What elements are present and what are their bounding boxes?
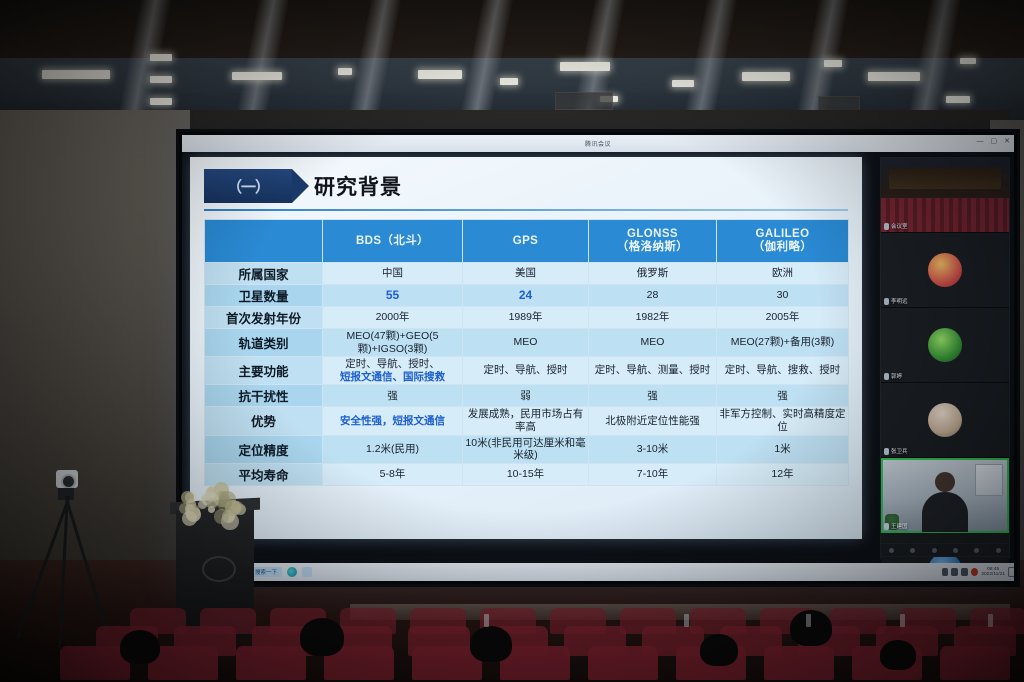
cell-galileo: 强 bbox=[717, 385, 849, 407]
cell-glonss: 28 bbox=[589, 285, 717, 307]
hall-stage bbox=[889, 168, 1002, 189]
gnss-comparison-table: BDS（北斗） GPS GLONSS （格洛纳斯） GALILEO bbox=[204, 219, 849, 486]
cell-text: 2005年 bbox=[766, 311, 800, 323]
cell-bds: 定时、导航、授时、短报文通信、国际搜救 bbox=[323, 357, 463, 385]
window-pane bbox=[975, 464, 1003, 496]
more-options-icon[interactable] bbox=[996, 548, 1001, 553]
microphone-icon bbox=[884, 223, 889, 230]
cell-text: 定时、导航、搜救、授时 bbox=[725, 364, 841, 376]
ceiling-light bbox=[338, 68, 352, 75]
table-row: 平均寿命5-8年10-15年7-10年12年 bbox=[205, 463, 849, 485]
water-bottle bbox=[806, 614, 811, 627]
auditorium-seat bbox=[690, 608, 746, 634]
participant-tile[interactable]: 张卫兵 bbox=[881, 383, 1009, 458]
person-body bbox=[922, 492, 968, 532]
auditorium-seat bbox=[970, 608, 1024, 634]
audience-head bbox=[300, 618, 344, 656]
cell-galileo: 欧洲 bbox=[717, 263, 849, 285]
app-icon[interactable] bbox=[302, 567, 312, 577]
ceiling-light bbox=[742, 72, 790, 81]
column-header-galileo: GALILEO （伽利略） bbox=[717, 220, 849, 263]
clock-date: 2022/11/21 bbox=[981, 572, 1005, 577]
participant-name: 王建国 bbox=[891, 522, 908, 530]
audience-head bbox=[470, 626, 512, 662]
ceiling-light bbox=[418, 70, 462, 79]
window-controls: — ▢ ✕ bbox=[977, 138, 1011, 145]
cell-text: 3-10米 bbox=[637, 443, 669, 455]
participant-name-badge: 会议室 bbox=[884, 222, 908, 230]
auditorium-seat bbox=[900, 608, 956, 634]
cell-text: 12年 bbox=[771, 468, 793, 480]
cell-text: 强 bbox=[387, 390, 398, 402]
cell-text: 1982年 bbox=[636, 311, 670, 323]
flower-arrangement bbox=[178, 482, 254, 528]
table-row: 所属国家中国美国俄罗斯欧洲 bbox=[205, 263, 849, 285]
cell-bds: MEO(47颗)+GEO(5颗)+IGSO(3颗) bbox=[323, 329, 463, 357]
cell-text: 中国 bbox=[382, 267, 403, 279]
maximize-icon[interactable]: ▢ bbox=[991, 138, 998, 145]
volume-icon[interactable] bbox=[961, 568, 968, 576]
cell-bds: 55 bbox=[323, 285, 463, 307]
window-titlebar: 腾讯会议 — ▢ ✕ bbox=[182, 135, 1014, 152]
auditorium-seat bbox=[620, 608, 676, 634]
row-label: 所属国家 bbox=[205, 263, 323, 285]
flower bbox=[186, 499, 196, 509]
cell-text: 1.2米(民用) bbox=[366, 443, 419, 455]
auditorium-seat bbox=[830, 608, 886, 634]
column-header-glonss-line2: （格洛纳斯） bbox=[617, 241, 688, 253]
participant-name-badge: 张卫兵 bbox=[884, 447, 908, 455]
cell-text: 非军方控制、实时高精度定位 bbox=[720, 408, 846, 433]
ceiling-light bbox=[150, 54, 172, 61]
cell-highlight-text: 24 bbox=[519, 288, 532, 302]
cell-highlight-text: 安全性强，短报文通信 bbox=[340, 415, 445, 427]
column-header-galileo-line2: （伽利略） bbox=[753, 241, 813, 253]
cell-galileo: 定时、导航、搜救、授时 bbox=[717, 357, 849, 385]
ceiling-light bbox=[42, 70, 110, 79]
cell-glonss: 俄罗斯 bbox=[589, 263, 717, 285]
section-number-badge: （一） bbox=[204, 169, 292, 203]
notification-icon[interactable] bbox=[971, 568, 978, 576]
participant-name: 李明远 bbox=[891, 297, 908, 305]
meeting-toolbar[interactable] bbox=[880, 543, 1010, 557]
column-header-bds: BDS（北斗） bbox=[323, 220, 463, 263]
table-row: 优势安全性强，短报文通信发展成熟，民用市场占有率高北极附近定位性能强非军方控制、… bbox=[205, 407, 849, 435]
row-label: 首次发射年份 bbox=[205, 307, 323, 329]
window-title: 腾讯会议 bbox=[585, 139, 611, 148]
table-header-row: BDS（北斗） GPS GLONSS （格洛纳斯） GALILEO bbox=[205, 220, 849, 263]
table-row: 抗干扰性强弱强强 bbox=[205, 385, 849, 407]
cell-text: 强 bbox=[777, 390, 788, 402]
cell-text: 1米 bbox=[774, 443, 790, 455]
cell-text: 定时、导航、授时 bbox=[484, 364, 568, 376]
column-header-bds-label: BDS（北斗） bbox=[356, 235, 429, 247]
participant-name: 郭婷 bbox=[891, 372, 902, 380]
microphone-icon bbox=[884, 373, 889, 380]
microphone-icon bbox=[884, 448, 889, 455]
table-corner-cell bbox=[205, 220, 323, 263]
cell-text: MEO(27颗)+备用(3颗) bbox=[731, 336, 835, 348]
projection-screen: 腾讯会议 — ▢ ✕ （一） 研究背景 bbox=[176, 129, 1020, 587]
cell-text: 30 bbox=[777, 289, 789, 301]
cell-text: MEO(47颗)+GEO(5颗)+IGSO(3颗) bbox=[347, 330, 439, 355]
participant-name-badge: 李明远 bbox=[884, 297, 908, 305]
audience-head bbox=[880, 640, 916, 670]
audience-head bbox=[790, 610, 832, 646]
cell-highlight-text: 55 bbox=[386, 288, 399, 302]
ceiling-light bbox=[500, 78, 518, 85]
cell-text: 北极附近定位性能强 bbox=[605, 415, 700, 427]
row-label: 抗干扰性 bbox=[205, 385, 323, 407]
camera-icon[interactable] bbox=[910, 548, 915, 553]
cell-text: 强 bbox=[647, 390, 658, 402]
cell-text: 28 bbox=[647, 289, 659, 301]
water-bottle bbox=[900, 614, 905, 627]
cell-text: 俄罗斯 bbox=[637, 267, 669, 279]
cell-galileo: 2005年 bbox=[717, 307, 849, 329]
system-tray[interactable]: 08:45 2022/11/21 bbox=[942, 567, 1014, 578]
cell-text: 10-15年 bbox=[507, 468, 544, 480]
ceiling-light bbox=[150, 98, 172, 105]
edge-browser-icon[interactable] bbox=[287, 567, 297, 577]
water-bottle bbox=[484, 614, 489, 627]
row-label: 优势 bbox=[205, 407, 323, 435]
taskbar-search-box[interactable]: 搜索一下 bbox=[250, 567, 282, 577]
slide-title: 研究背景 bbox=[314, 171, 402, 201]
ceiling-light bbox=[560, 62, 610, 71]
table-row: 定位精度1.2米(民用)10米(非民用可达厘米和毫米级)3-10米1米 bbox=[205, 435, 849, 463]
cell-bds: 强 bbox=[323, 385, 463, 407]
camera-lens bbox=[61, 474, 76, 489]
cell-glonss: 7-10年 bbox=[589, 463, 717, 485]
person-head bbox=[935, 472, 955, 492]
cell-bds: 安全性强，短报文通信 bbox=[323, 407, 463, 435]
cell-gps: 美国 bbox=[463, 263, 589, 285]
cell-gps: 弱 bbox=[463, 385, 589, 407]
desktop: 腾讯会议 — ▢ ✕ （一） 研究背景 bbox=[182, 135, 1014, 581]
audience-head bbox=[700, 634, 738, 666]
ceiling-light bbox=[960, 58, 976, 64]
section-number-label: （一） bbox=[227, 176, 269, 197]
cell-text: 弱 bbox=[520, 390, 531, 402]
meeting-participant-sidebar[interactable]: 会议室李明远郭婷张卫兵王建国陈学院 bbox=[880, 157, 1010, 559]
participant-tile[interactable]: 郭婷 bbox=[881, 308, 1009, 383]
clock-time: 08:45 bbox=[987, 567, 999, 572]
ceiling-vent bbox=[555, 92, 613, 110]
cell-highlight-text: 短报文通信、国际搜救 bbox=[340, 371, 445, 383]
network-icon[interactable] bbox=[951, 568, 958, 576]
close-icon[interactable]: ✕ bbox=[1004, 138, 1010, 145]
cell-text: 5-8年 bbox=[380, 468, 406, 480]
cell-bds: 5-8年 bbox=[323, 463, 463, 485]
cell-text: 发展成熟，民用市场占有率高 bbox=[468, 408, 584, 433]
cell-glonss: 定时、导航、测量、授时 bbox=[589, 357, 717, 385]
cell-text: 1989年 bbox=[509, 311, 543, 323]
participant-tile[interactable]: 李明远 bbox=[881, 233, 1009, 308]
cell-gps: 24 bbox=[463, 285, 589, 307]
cell-glonss: 强 bbox=[589, 385, 717, 407]
cell-galileo: 非军方控制、实时高精度定位 bbox=[717, 407, 849, 435]
auditorium-seat bbox=[200, 608, 256, 634]
column-header-galileo-line1: GALILEO bbox=[756, 228, 810, 240]
cell-text: 2000年 bbox=[376, 311, 410, 323]
cell-gps: 发展成熟，民用市场占有率高 bbox=[463, 407, 589, 435]
participants-icon[interactable] bbox=[953, 548, 958, 553]
cell-gps: 10-15年 bbox=[463, 463, 589, 485]
avatar bbox=[928, 328, 962, 362]
avatar bbox=[928, 253, 962, 287]
ceiling-light bbox=[672, 80, 694, 87]
avatar bbox=[928, 403, 962, 437]
cell-glonss: MEO bbox=[589, 329, 717, 357]
ceiling-light bbox=[946, 96, 970, 103]
water-bottle bbox=[988, 614, 993, 627]
share-screen-icon[interactable] bbox=[932, 548, 937, 553]
cell-bds: 中国 bbox=[323, 263, 463, 285]
chat-icon[interactable] bbox=[974, 548, 979, 553]
audience-head bbox=[120, 630, 160, 664]
auditorium-seating bbox=[0, 600, 1024, 682]
column-header-glonss-line1: GLONSS bbox=[627, 228, 678, 240]
cell-glonss: 3-10米 bbox=[589, 435, 717, 463]
row-label: 定位精度 bbox=[205, 435, 323, 463]
cell-text: 欧洲 bbox=[772, 267, 793, 279]
ceiling-light bbox=[824, 60, 842, 67]
cell-gps: 10米(非民用可达厘米和毫米级) bbox=[463, 435, 589, 463]
cell-text: 10米(非民用可达厘米和毫米级) bbox=[465, 437, 585, 462]
participant-tile[interactable]: 会议室 bbox=[881, 158, 1009, 233]
participant-name-badge: 王建国 bbox=[884, 522, 908, 530]
participant-name: 会议室 bbox=[891, 222, 908, 230]
cell-glonss: 1982年 bbox=[589, 307, 717, 329]
column-header-gps-label: GPS bbox=[513, 235, 539, 247]
column-header-gps: GPS bbox=[463, 220, 589, 263]
table-row: 首次发射年份2000年1989年1982年2005年 bbox=[205, 307, 849, 329]
show-desktop-icon[interactable] bbox=[1008, 567, 1014, 577]
cell-text: 定时、导航、测量、授时 bbox=[595, 364, 711, 376]
participant-name: 张卫兵 bbox=[891, 447, 908, 455]
auditorium-seat bbox=[340, 608, 396, 634]
cell-galileo: 12年 bbox=[717, 463, 849, 485]
flower bbox=[214, 509, 228, 523]
cell-text: MEO bbox=[641, 336, 665, 348]
row-label: 主要功能 bbox=[205, 357, 323, 385]
windows-taskbar[interactable]: 德国队之牛小组赛 搜索一下 08:45 2022/11/21 bbox=[182, 563, 1014, 581]
mic-icon[interactable] bbox=[889, 548, 894, 553]
title-divider bbox=[204, 209, 848, 211]
cell-gps: 定时、导航、授时 bbox=[463, 357, 589, 385]
cell-bds: 1.2米(民用) bbox=[323, 435, 463, 463]
ceiling-light bbox=[150, 76, 172, 83]
cell-text: 美国 bbox=[515, 267, 536, 279]
presentation-slide: （一） 研究背景 BDS（北斗） bbox=[190, 157, 862, 539]
minimize-icon[interactable]: — bbox=[977, 138, 984, 145]
conference-room: 腾讯会议 — ▢ ✕ （一） 研究背景 bbox=[0, 0, 1024, 682]
table-row: 卫星数量55242830 bbox=[205, 285, 849, 307]
microphone-icon bbox=[884, 523, 889, 530]
cell-text: 7-10年 bbox=[637, 468, 669, 480]
tray-chevron-icon[interactable] bbox=[942, 568, 948, 576]
podium-emblem bbox=[202, 556, 236, 582]
ceiling-light bbox=[232, 72, 282, 80]
column-header-glonss: GLONSS （格洛纳斯） bbox=[589, 220, 717, 263]
cell-galileo: 1米 bbox=[717, 435, 849, 463]
table-row: 轨道类别MEO(47颗)+GEO(5颗)+IGSO(3颗)MEOMEOMEO(2… bbox=[205, 329, 849, 357]
participant-name-badge: 郭婷 bbox=[884, 372, 902, 380]
cell-text: MEO bbox=[514, 336, 538, 348]
cell-galileo: MEO(27颗)+备用(3颗) bbox=[717, 329, 849, 357]
taskbar-clock[interactable]: 08:45 2022/11/21 bbox=[981, 567, 1005, 578]
row-label: 卫星数量 bbox=[205, 285, 323, 307]
cell-gps: MEO bbox=[463, 329, 589, 357]
row-label: 轨道类别 bbox=[205, 329, 323, 357]
cell-bds: 2000年 bbox=[323, 307, 463, 329]
microphone-icon bbox=[884, 298, 889, 305]
auditorium-seat bbox=[550, 608, 606, 634]
cell-text: 定时、导航、授时、 bbox=[345, 358, 440, 370]
water-bottle bbox=[684, 614, 689, 627]
ceiling-light bbox=[868, 72, 920, 81]
table-body: 所属国家中国美国俄罗斯欧洲卫星数量55242830首次发射年份2000年1989… bbox=[205, 263, 849, 486]
cell-glonss: 北极附近定位性能强 bbox=[589, 407, 717, 435]
cell-gps: 1989年 bbox=[463, 307, 589, 329]
flower bbox=[203, 492, 219, 508]
cell-galileo: 30 bbox=[717, 285, 849, 307]
participant-tile[interactable]: 王建国 bbox=[881, 458, 1009, 533]
table-row: 主要功能定时、导航、授时、短报文通信、国际搜救定时、导航、授时定时、导航、测量、… bbox=[205, 357, 849, 385]
slide-header: （一） 研究背景 bbox=[204, 169, 848, 209]
auditorium-seat bbox=[410, 608, 466, 634]
